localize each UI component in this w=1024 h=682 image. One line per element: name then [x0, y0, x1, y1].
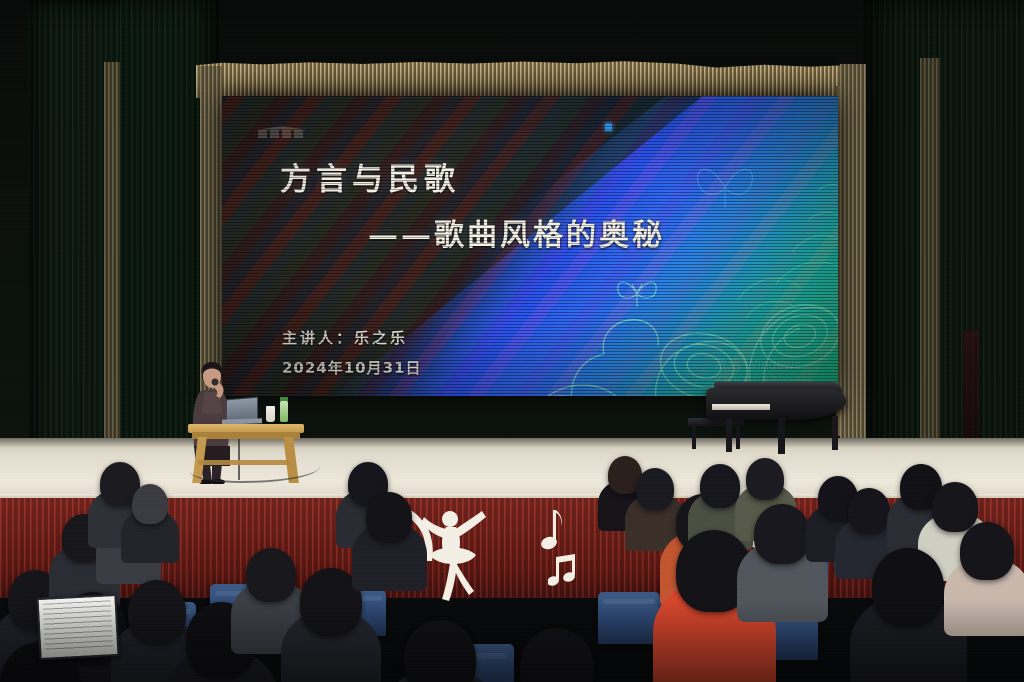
- slide-title: 方言与民歌: [280, 154, 460, 199]
- slide-logo-mark: [256, 126, 312, 140]
- audience-member-head: [848, 488, 890, 534]
- audience-laptop-screen-content: [43, 600, 114, 653]
- audience-chair[interactable]: [598, 592, 660, 644]
- piano-bench-leg-right: [736, 425, 740, 449]
- audience-member-head: [520, 628, 594, 682]
- grand-piano-leg-center: [778, 418, 785, 454]
- audience-member-head: [246, 548, 296, 602]
- curtain-panel-right: [862, 0, 1024, 498]
- audience-member-head: [700, 464, 740, 508]
- butterfly-icon-upper: [690, 156, 760, 214]
- grand-piano-leg-front-left: [726, 418, 732, 452]
- water-bottle-cap: [280, 397, 288, 401]
- paper-cup: [266, 406, 275, 422]
- grand-piano-keyboard: [712, 404, 770, 410]
- grand-piano-leg-right: [832, 416, 838, 450]
- audience-member-head: [754, 504, 810, 564]
- audience-member-head: [366, 492, 412, 542]
- watermark-title: 激活 Windows: [714, 354, 822, 373]
- presentation-slide: 方言与民歌 ——歌曲风格的奥秘 主讲人：乐之乐 2024年10月31日 激活 W…: [222, 96, 838, 396]
- stage-floor-shadow: [0, 438, 1024, 448]
- slide-date: 2024年10月31日: [282, 357, 422, 378]
- audience-area: [0, 452, 1024, 682]
- curtain-drape-tan-right: [920, 58, 940, 498]
- auditorium-lecture-photo: 方言与民歌 ——歌曲风格的奥秘 主讲人：乐之乐 2024年10月31日 激活 W…: [0, 0, 1024, 682]
- audience-member-head: [746, 458, 784, 500]
- slide-presenter: 主讲人：乐之乐: [282, 327, 408, 348]
- audience-member-head: [932, 482, 978, 532]
- butterfly-icon-lower: [614, 274, 660, 310]
- audience-member-head: [960, 522, 1014, 580]
- audience-member-head: [872, 548, 944, 626]
- audience-member-head: [128, 580, 186, 644]
- projection-screen: 方言与民歌 ——歌曲风格的奥秘 主讲人：乐之乐 2024年10月31日 激活 W…: [222, 96, 838, 396]
- audience-member-head: [404, 620, 476, 682]
- audience-member-head: [132, 484, 168, 524]
- water-bottle: [280, 400, 288, 422]
- slide-subtitle: ——歌曲风格的奥秘: [368, 210, 665, 254]
- audience-member-head: [636, 468, 674, 510]
- slide-marker-dot: [605, 123, 612, 131]
- piano-bench-leg-left: [692, 425, 696, 449]
- audience-open-laptop[interactable]: [36, 594, 119, 660]
